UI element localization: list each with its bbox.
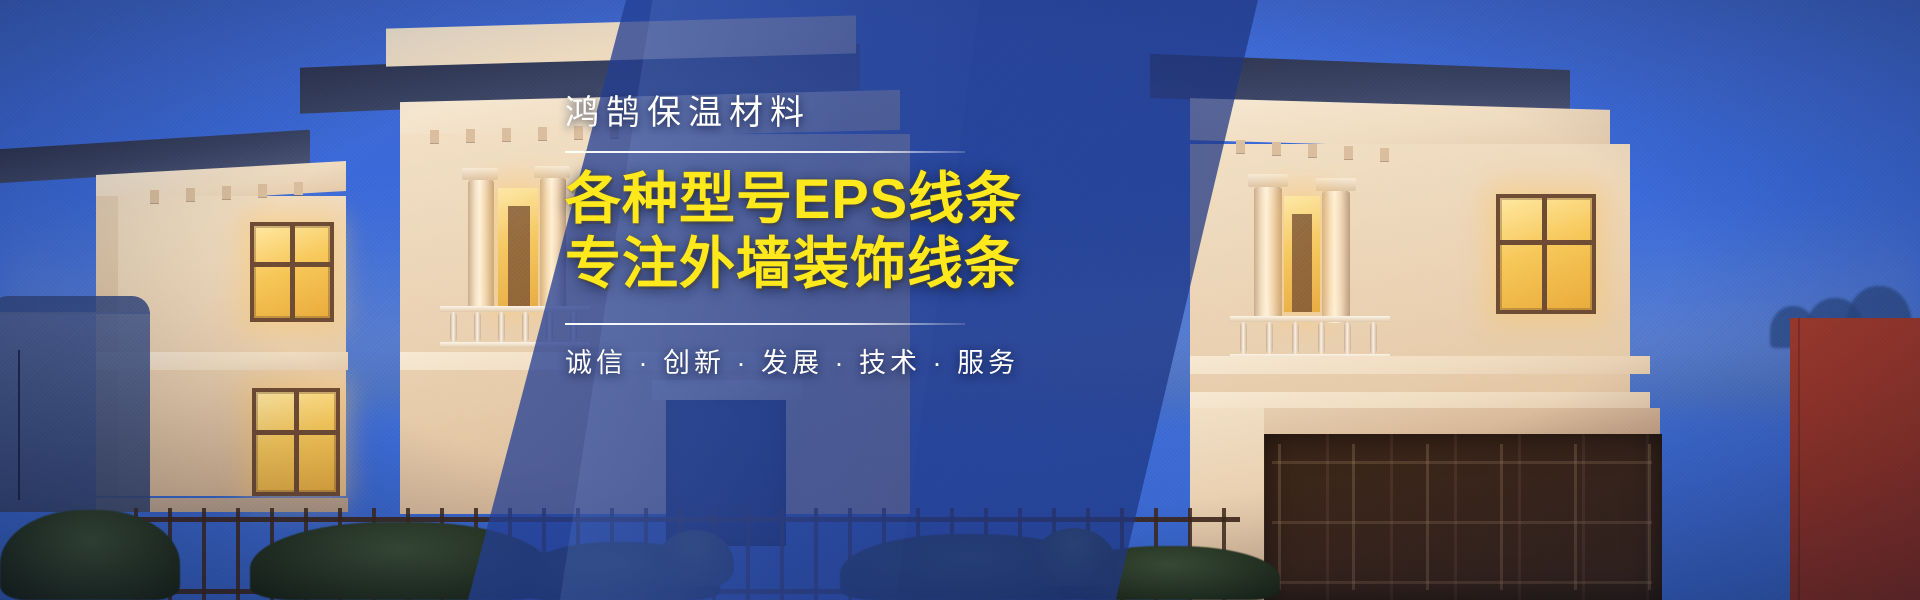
shrub xyxy=(0,510,180,600)
belt-course xyxy=(1190,356,1650,374)
column-capital xyxy=(1316,178,1356,191)
red-wall xyxy=(1790,318,1920,600)
dentil xyxy=(1272,142,1281,155)
headline-line-2: 专注外墙装饰线条 xyxy=(565,232,1125,297)
hero-banner: 鸿鹄保温材料 各种型号EPS线条 专注外墙装饰线条 诚信 · 创新 · 发展 ·… xyxy=(0,0,1920,600)
background-building xyxy=(0,312,150,512)
dentil xyxy=(502,128,511,141)
column xyxy=(540,178,566,310)
dentil xyxy=(1380,148,1389,161)
dentil xyxy=(1236,140,1245,153)
window-mullion xyxy=(250,262,334,267)
balustrade xyxy=(1230,316,1390,360)
dentil xyxy=(150,190,159,203)
loggia-door xyxy=(508,206,530,306)
dentil xyxy=(466,129,475,142)
headline: 各种型号EPS线条 专注外墙装饰线条 xyxy=(565,167,1125,297)
garage-panel-grid xyxy=(1272,444,1652,590)
column xyxy=(1254,187,1282,321)
garage-door xyxy=(1262,434,1662,600)
dentil xyxy=(1308,144,1317,157)
dentil xyxy=(430,130,439,143)
dentil xyxy=(294,182,303,195)
divider-top xyxy=(565,151,965,153)
window-mullion xyxy=(290,222,295,322)
dentil xyxy=(538,127,547,140)
dentil xyxy=(1344,146,1353,159)
headline-line-1: 各种型号EPS线条 xyxy=(565,167,1125,232)
window-mullion xyxy=(1542,194,1547,314)
column-capital xyxy=(1248,174,1288,187)
column-capital xyxy=(462,168,498,180)
divider-bottom xyxy=(565,323,965,325)
column xyxy=(1322,191,1350,323)
window-mullion xyxy=(252,430,340,435)
fence-rail xyxy=(120,517,1240,522)
dentil xyxy=(222,186,231,199)
pole xyxy=(18,350,20,500)
dentil xyxy=(186,188,195,201)
window-mullion xyxy=(1496,240,1596,245)
brand-name: 鸿鹄保温材料 xyxy=(565,92,1125,135)
loggia-door xyxy=(1292,214,1312,312)
banner-copy: 鸿鹄保温材料 各种型号EPS线条 专注外墙装饰线条 诚信 · 创新 · 发展 ·… xyxy=(565,92,1125,380)
entry-lintel xyxy=(652,380,802,400)
shrub xyxy=(250,522,550,600)
belt-course xyxy=(1190,392,1650,408)
window-mullion xyxy=(294,388,299,496)
tagline: 诚信 · 创新 · 发展 · 技术 · 服务 xyxy=(565,341,1125,380)
column xyxy=(468,180,494,310)
dentil xyxy=(258,184,267,197)
